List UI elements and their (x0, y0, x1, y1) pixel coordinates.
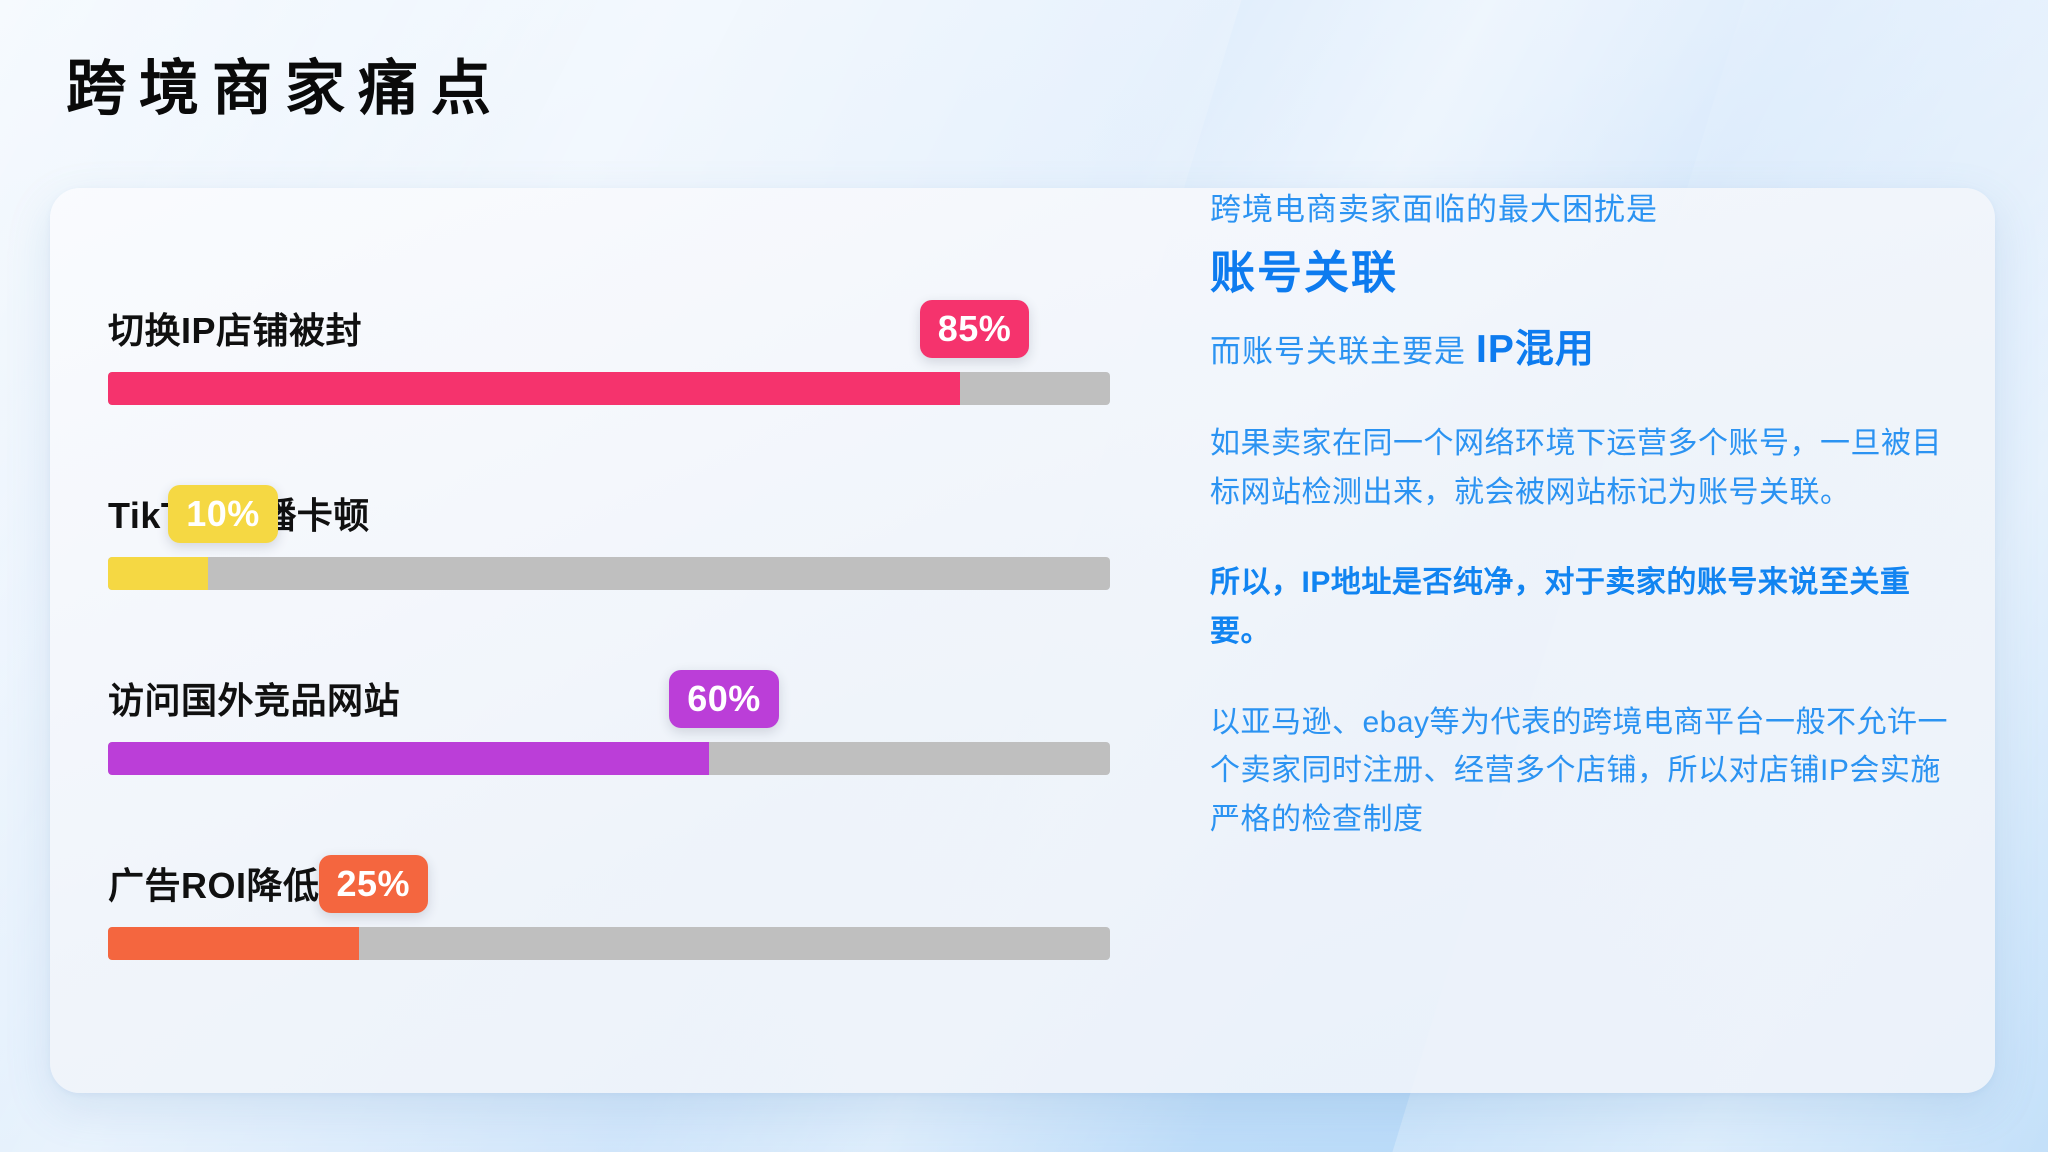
headline-text: 账号关联 (1210, 243, 1955, 304)
slide-canvas: 跨境商家痛点 切换IP店铺被封 85% TikTok直播卡顿 10% (0, 0, 2048, 1152)
bar-label: 访问国外竞品网站 (108, 672, 400, 724)
bar-label: 切换IP店铺被封 (108, 302, 362, 354)
bar-fill (108, 372, 960, 405)
bar-value-badge: 10% (168, 485, 278, 543)
bar-fill (108, 557, 208, 590)
bar-header: 切换IP店铺被封 85% (108, 288, 1163, 354)
paragraph-1: 如果卖家在同一个网络环境下运营多个账号，一旦被目标网站检测出来，就会被网站标记为… (1210, 420, 1955, 517)
bar-track (108, 557, 1110, 590)
bar-value-badge: 60% (669, 670, 779, 728)
bar-header: 广告ROI降低 25% (108, 843, 1163, 909)
explanation-panel: 跨境电商卖家面临的最大困扰是 账号关联 而账号关联主要是IP混用 如果卖家在同一… (1210, 188, 1955, 844)
bar-value-badge: 25% (319, 855, 429, 913)
bar-fill (108, 742, 709, 775)
page-title: 跨境商家痛点 (66, 56, 504, 122)
subheadline-emphasis: IP混用 (1476, 328, 1595, 371)
bar-track (108, 927, 1110, 960)
pain-points-bar-chart: 切换IP店铺被封 85% TikTok直播卡顿 10% (108, 288, 1163, 960)
bar-row: 访问国外竞品网站 60% (108, 658, 1163, 775)
bar-header: 访问国外竞品网站 60% (108, 658, 1163, 724)
bar-track (108, 372, 1110, 405)
bar-row: 广告ROI降低 25% (108, 843, 1163, 960)
bar-track (108, 742, 1110, 775)
paragraph-2: 所以，IP地址是否纯净，对于卖家的账号来说至关重要。 (1210, 559, 1955, 656)
subheadline-prefix: 而账号关联主要是 (1210, 334, 1466, 369)
content-card: 切换IP店铺被封 85% TikTok直播卡顿 10% (50, 188, 1995, 1093)
bar-row: TikTok直播卡顿 10% (108, 473, 1163, 590)
bar-fill (108, 927, 359, 960)
bar-label: 广告ROI降低 (108, 857, 320, 909)
paragraph-3: 以亚马逊、ebay等为代表的跨境电商平台一般不允许一个卖家同时注册、经营多个店铺… (1210, 699, 1955, 845)
bar-header: TikTok直播卡顿 10% (108, 473, 1163, 539)
bar-row: 切换IP店铺被封 85% (108, 288, 1163, 405)
bar-value-badge: 85% (920, 300, 1030, 358)
lead-text: 跨境电商卖家面临的最大困扰是 (1210, 188, 1955, 233)
subheadline-row: 而账号关联主要是IP混用 (1210, 322, 1955, 379)
